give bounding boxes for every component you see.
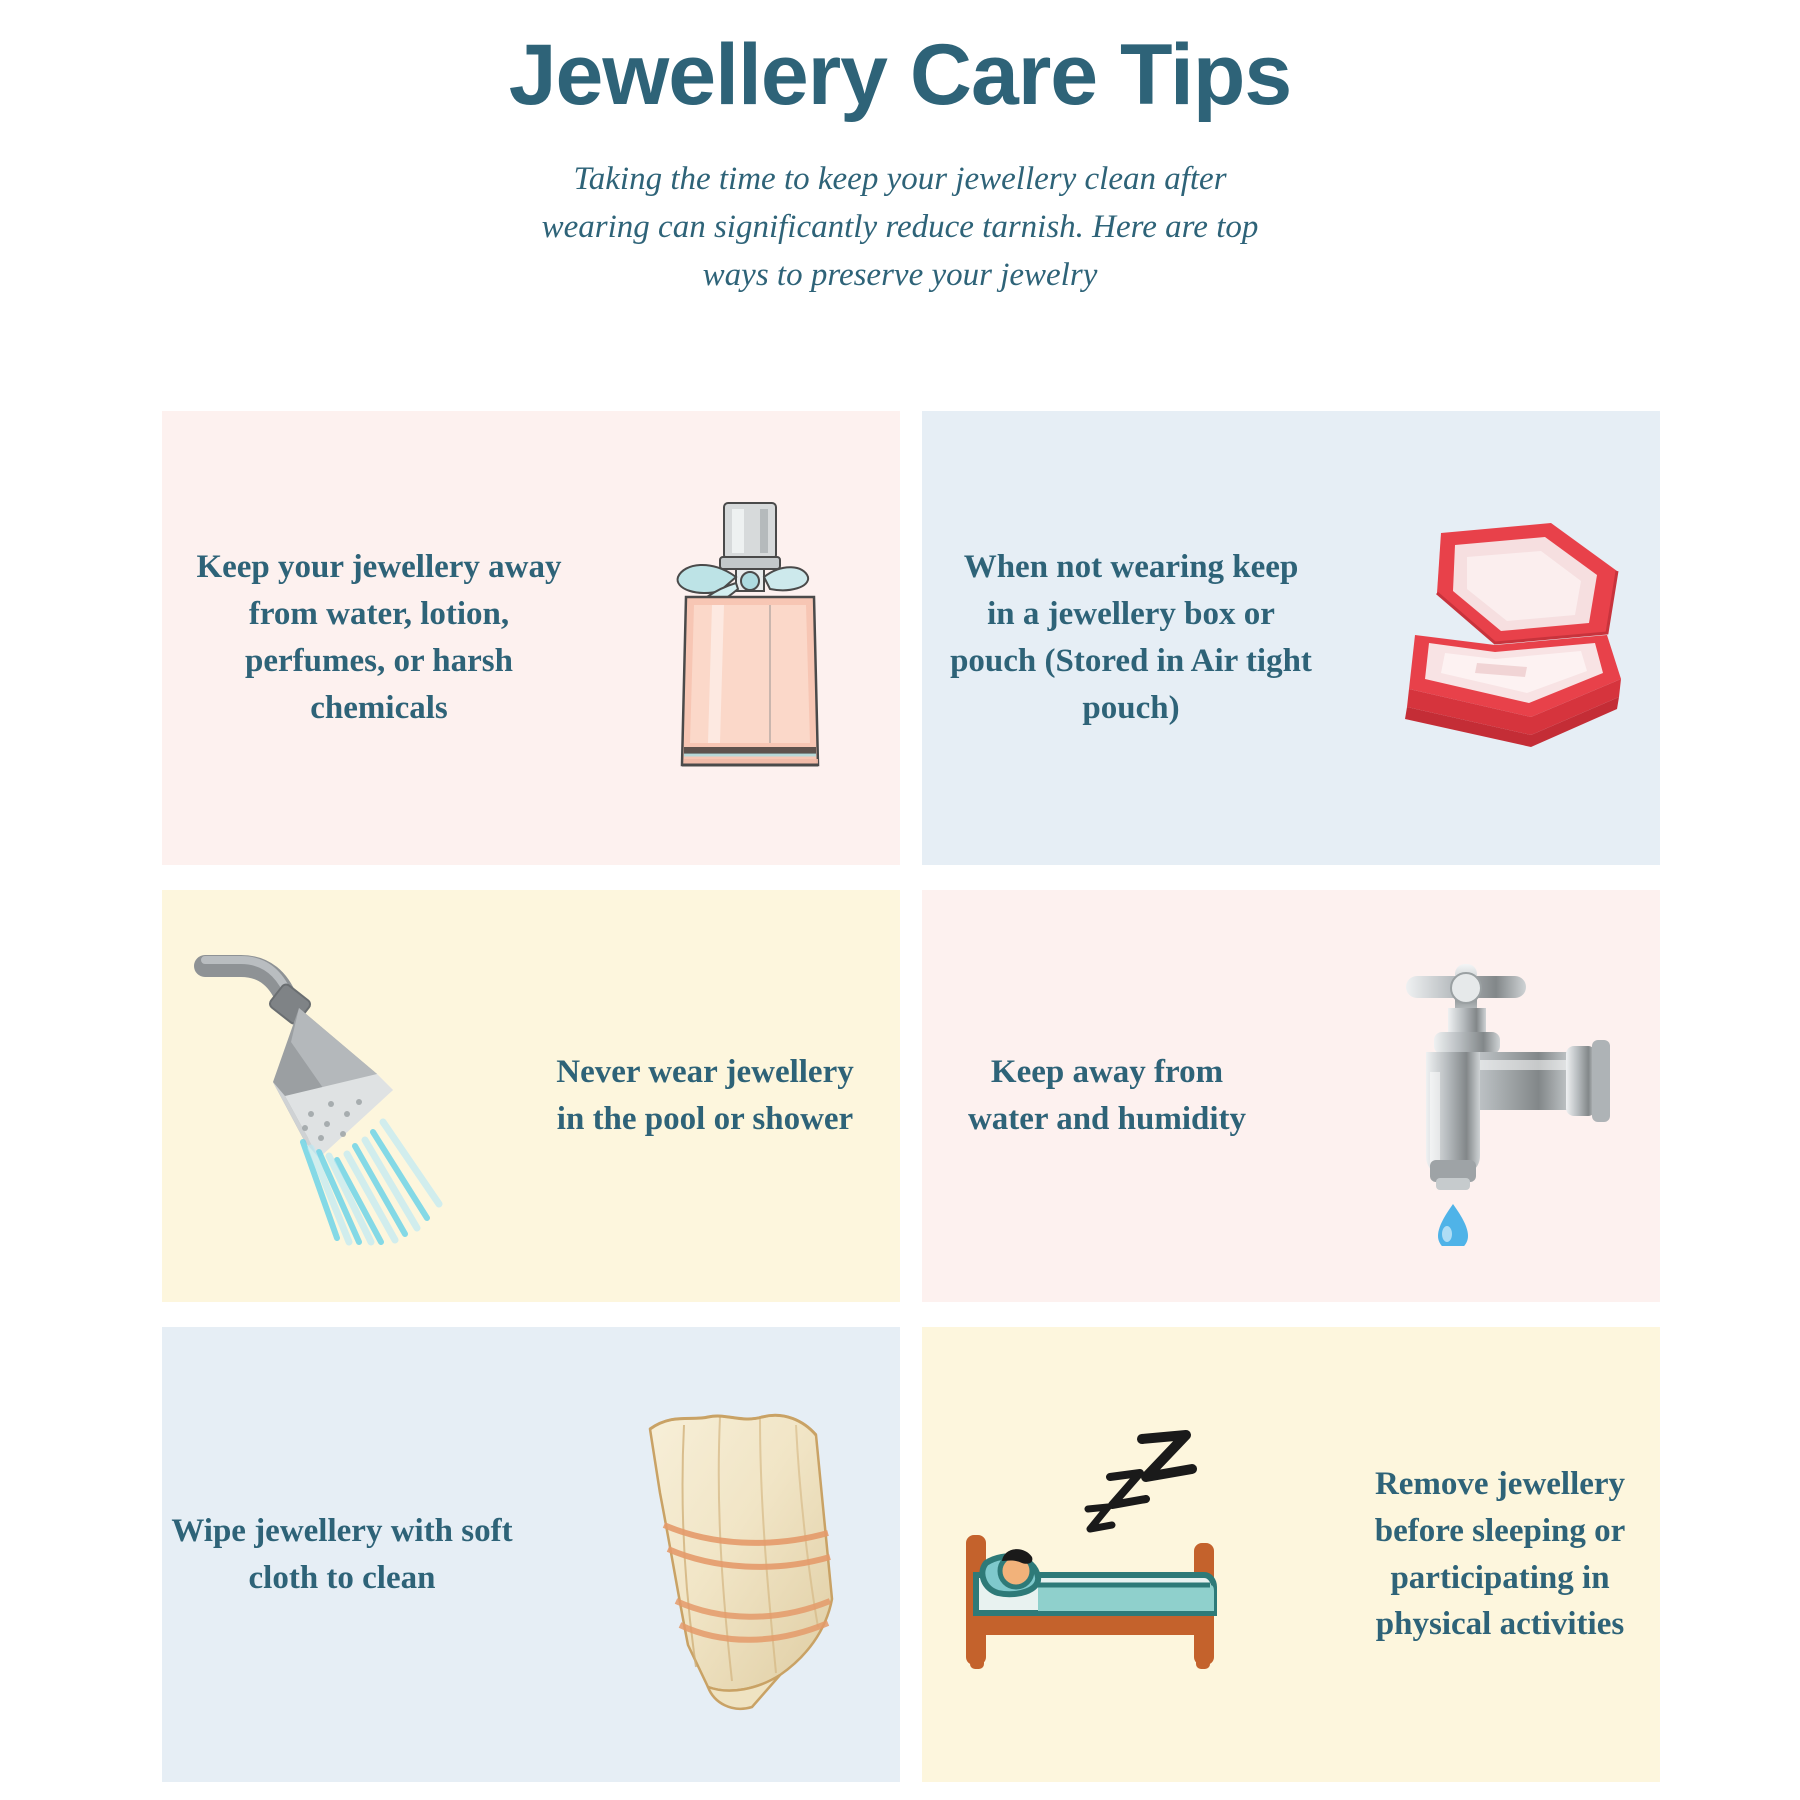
tip-card-1-text: Keep your jewellery away from water, lot… <box>162 544 562 731</box>
tip-card-6-text: Remove jewellery before sleeping or part… <box>1320 1461 1660 1648</box>
tip-card-4-text: Keep away from water and humidity <box>922 1049 1252 1143</box>
page-title: Jewellery Care Tips <box>0 30 1800 120</box>
tip-card-6[interactable]: Remove jewellery before sleeping or part… <box>922 1327 1660 1782</box>
tip-card-2-text: When not wearing keep in a jewellery box… <box>922 544 1312 731</box>
water-faucet-icon <box>1300 946 1660 1246</box>
tip-card-3[interactable]: Never wear jewellery in the pool or show… <box>162 890 900 1302</box>
shower-head-icon <box>162 946 512 1246</box>
soft-cloth-icon <box>560 1395 900 1715</box>
tips-grid: Keep your jewellery away from water, lot… <box>162 411 1640 1782</box>
ring-box-icon <box>1330 513 1660 763</box>
sleeping-bed-icon <box>922 1425 1282 1685</box>
header: Jewellery Care Tips Taking the time to k… <box>0 0 1800 300</box>
tip-card-5[interactable]: Wipe jewellery with soft cloth to clean <box>162 1327 900 1782</box>
infographic-page: Jewellery Care Tips Taking the time to k… <box>0 0 1800 1800</box>
tip-card-2[interactable]: When not wearing keep in a jewellery box… <box>922 411 1660 865</box>
perfume-bottle-icon <box>600 493 900 783</box>
tip-card-3-text: Never wear jewellery in the pool or show… <box>540 1049 900 1143</box>
tip-card-4[interactable]: Keep away from water and humidity <box>922 890 1660 1302</box>
tip-card-5-text: Wipe jewellery with soft cloth to clean <box>162 1508 532 1602</box>
tip-card-1[interactable]: Keep your jewellery away from water, lot… <box>162 411 900 865</box>
page-subtitle: Taking the time to keep your jewellery c… <box>520 156 1280 300</box>
